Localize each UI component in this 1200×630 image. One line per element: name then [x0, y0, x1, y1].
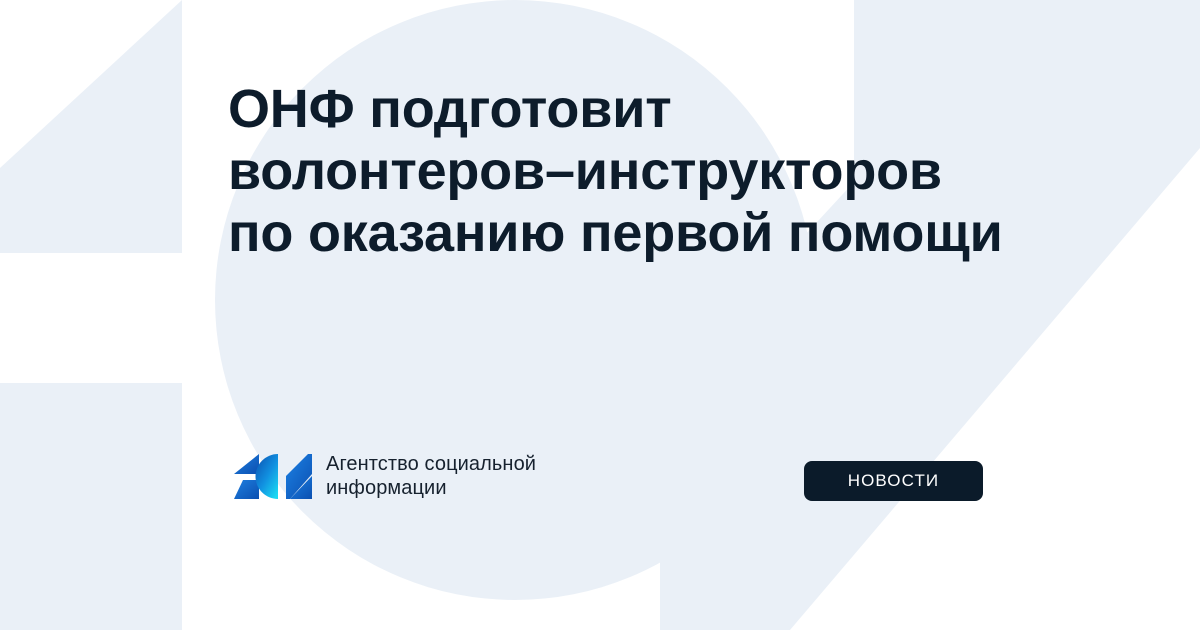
social-share-card: ОНФ подготовит волонтеров–инструкторов п…	[0, 0, 1200, 630]
status-badge-news[interactable]: НОВОСТИ	[804, 461, 983, 501]
asi-logo-text: Агентство социальной информации	[326, 452, 536, 500]
asi-logo-mark-icon	[234, 454, 312, 499]
asi-logo[interactable]: Агентство социальной информации	[234, 452, 536, 500]
watermark-letter-a-bottom	[0, 383, 182, 630]
page-title: ОНФ подготовит волонтеров–инструкторов п…	[228, 78, 1018, 264]
watermark-letter-a-top	[0, 0, 182, 253]
